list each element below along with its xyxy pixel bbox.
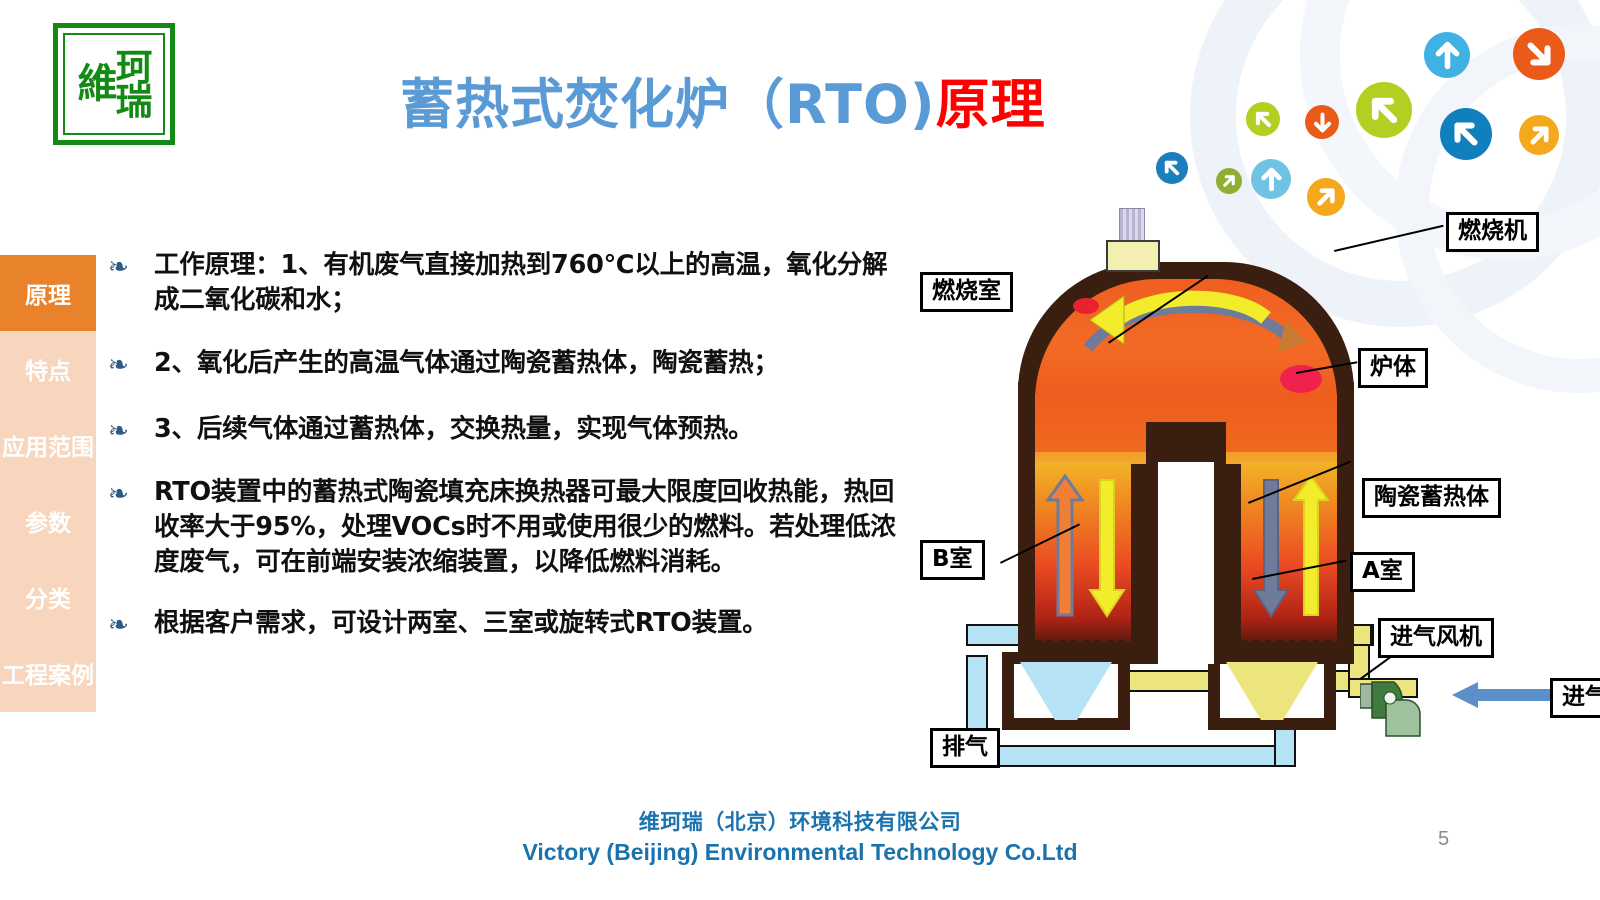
sidebar-item-principle[interactable]: 原理: [0, 255, 96, 331]
logo-seal-characters: 維 珂 瑞: [58, 28, 170, 140]
logo-char-bottom-right: 瑞: [116, 84, 151, 118]
company-logo: 維 珂 瑞: [53, 23, 175, 145]
sidebar-item-label: 特点: [25, 352, 71, 386]
burner-body: [1106, 240, 1160, 272]
label-inlet-fan: 进气风机: [1378, 618, 1494, 658]
page-title-highlight: 原理: [936, 73, 1046, 136]
list-item-text: 3、后续气体通过蓄热体，交换热量，实现气体预热。: [154, 412, 908, 447]
page-title: 蓄热式焚化炉（RTO)原理: [400, 60, 1100, 139]
arrow-up-left-icon: [1246, 102, 1280, 136]
rto-cutaway-diagram: 燃烧机 燃烧室 炉体 陶瓷蓄热体 B室 A室 进气风机 进气 排气: [900, 200, 1600, 780]
exhaust-pipe-segment: [966, 745, 1296, 767]
bullet-swirl-icon: ❧: [108, 606, 154, 641]
sidebar-item-label: 原理: [25, 276, 71, 310]
list-item-text: 根据客户需求，可设计两室、三室或旋转式RTO装置。: [154, 606, 908, 641]
list-item-text: 2、氧化后产生的高温气体通过陶瓷蓄热体，陶瓷蓄热；: [154, 346, 908, 381]
hot-gas-up-arrow: [1048, 476, 1082, 615]
footer-company-cn: 维珂瑞（北京）环境科技有限公司: [0, 806, 1600, 836]
label-furnace-body: 炉体: [1358, 348, 1428, 388]
list-item-text: 工作原理：1、有机废气直接加热到760℃以上的高温，氧化分解成二氧化碳和水；: [154, 248, 908, 318]
sidebar-item-applications[interactable]: 应用范围: [0, 407, 96, 483]
list-item: ❧ 工作原理：1、有机废气直接加热到760℃以上的高温，氧化分解成二氧化碳和水；: [108, 248, 908, 318]
label-combustion-chamber: 燃烧室: [920, 272, 1013, 312]
sidebar-item-case-studies[interactable]: 工程案例: [0, 635, 96, 711]
list-item: ❧ RTO装置中的蓄热式陶瓷填充床换热器可最大限度回收热能，热回收率大于95%，…: [108, 475, 908, 581]
sidebar-item-parameters[interactable]: 参数: [0, 483, 96, 559]
hot-gas-up-arrow: [1294, 476, 1328, 615]
chamber-b-flow-arrows: [1038, 470, 1134, 630]
furnace-vessel: [1018, 262, 1354, 664]
slide-root: 維 珂 瑞 蓄热式焚化炉（RTO)原理 原理 特点 应用范围 参数 分类 工程案…: [0, 0, 1600, 900]
label-exhaust: 排气: [930, 728, 1000, 768]
section-nav-sidebar: 原理 特点 应用范围 参数 分类 工程案例: [0, 255, 96, 712]
bullet-swirl-icon: ❧: [108, 475, 154, 581]
label-chamber-b: B室: [920, 540, 985, 580]
gas-flow-arrowhead-gray: [1278, 320, 1306, 352]
arrow-up-icon: [1424, 32, 1470, 78]
arrow-down-right-icon: [1513, 28, 1565, 80]
sidebar-item-label: 应用范围: [2, 428, 94, 462]
sidebar-item-label: 分类: [25, 580, 71, 614]
sidebar-item-features[interactable]: 特点: [0, 331, 96, 407]
leader-line-burner: [1334, 225, 1444, 252]
arrow-up-right-icon: [1519, 115, 1559, 155]
label-burner: 燃烧机: [1446, 212, 1539, 252]
list-item-text: RTO装置中的蓄热式陶瓷填充床换热器可最大限度回收热能，热回收率大于95%，处理…: [154, 475, 908, 581]
arrow-up-left-icon: [1156, 152, 1188, 184]
label-chamber-a: A室: [1350, 552, 1415, 592]
cool-gas-down-arrow: [1090, 480, 1124, 616]
arrow-down-icon: [1305, 105, 1339, 139]
arrow-up-left-icon: [1356, 82, 1412, 138]
label-ceramic-media: 陶瓷蓄热体: [1362, 478, 1501, 518]
body-bullet-list: ❧ 工作原理：1、有机废气直接加热到760℃以上的高温，氧化分解成二氧化碳和水；…: [108, 248, 908, 662]
bullet-swirl-icon: ❧: [108, 248, 154, 318]
arrow-up-icon: [1251, 159, 1291, 199]
arrow-up-left-icon: [1440, 108, 1492, 160]
bullet-swirl-icon: ❧: [108, 346, 154, 381]
sidebar-item-label: 参数: [25, 504, 71, 538]
inlet-fan-icon: [1360, 670, 1438, 740]
bullet-swirl-icon: ❧: [108, 412, 154, 447]
logo-char-column: 珂 瑞: [116, 50, 151, 118]
label-inlet: 进气: [1550, 678, 1600, 718]
list-item: ❧ 根据客户需求，可设计两室、三室或旋转式RTO装置。: [108, 606, 908, 641]
page-title-main: 蓄热式焚化炉（RTO): [400, 73, 936, 136]
arrow-up-right-icon: [1216, 168, 1242, 194]
inlet-direction-arrow: [1452, 682, 1562, 708]
sidebar-item-classification[interactable]: 分类: [0, 559, 96, 635]
page-number: 5: [1438, 828, 1449, 851]
logo-char-left: 維: [78, 66, 116, 103]
footer-company-en: Victory (Beijing) Environmental Technolo…: [0, 839, 1600, 866]
footer: 维珂瑞（北京）环境科技有限公司 Victory (Beijing) Enviro…: [0, 806, 1600, 866]
list-item: ❧ 2、氧化后产生的高温气体通过陶瓷蓄热体，陶瓷蓄热；: [108, 346, 908, 381]
sidebar-item-label: 工程案例: [2, 656, 94, 690]
burner-stack: [1119, 208, 1145, 244]
chamber-a-flow-arrows: [1242, 470, 1338, 630]
list-item: ❧ 3、后续气体通过蓄热体，交换热量，实现气体预热。: [108, 412, 908, 447]
cool-gas-down-arrow: [1254, 480, 1288, 616]
